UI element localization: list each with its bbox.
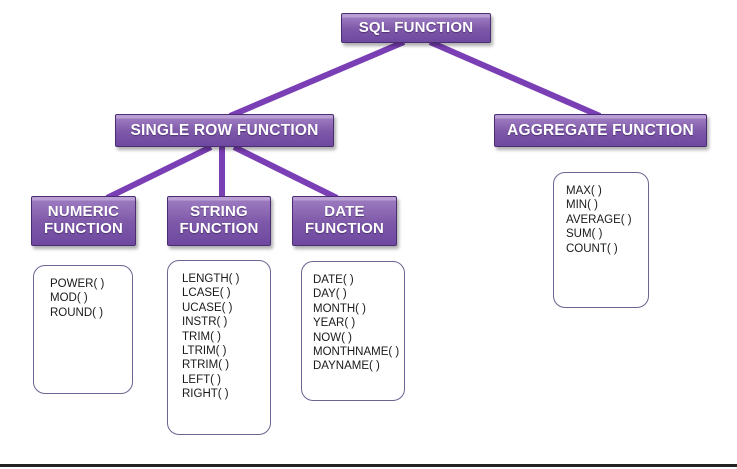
list-item: TRIM( ): [182, 330, 270, 344]
list-date-functions: DATE( )DAY( )MONTH( )YEAR( )NOW( )MONTHN…: [301, 261, 405, 401]
list-item: RTRIM( ): [182, 358, 270, 372]
list-item: AVERAGE( ): [566, 213, 648, 227]
list-item: LTRIM( ): [182, 344, 270, 358]
list-item: DATE( ): [313, 273, 404, 287]
node-string-function-label: STRING FUNCTION: [168, 204, 270, 238]
list-item: LCASE( ): [182, 286, 270, 300]
list-string-functions: LENGTH( )LCASE( )UCASE( )INSTR( )TRIM( )…: [167, 260, 271, 435]
node-date-function-label: DATE FUNCTION: [293, 204, 396, 238]
list-item: MOD( ): [50, 291, 132, 305]
list-item: POWER( ): [50, 277, 132, 291]
list-date-functions-items: DATE( )DAY( )MONTH( )YEAR( )NOW( )MONTHN…: [302, 262, 404, 374]
connector-root-to-aggregate: [430, 42, 600, 116]
list-item: SUM( ): [566, 227, 648, 241]
node-string-function-line1: STRING: [190, 203, 248, 220]
node-string-function-line2: FUNCTION: [179, 220, 258, 237]
node-single-row-function-label: SINGLE ROW FUNCTION: [116, 122, 333, 139]
list-item: COUNT( ): [566, 242, 648, 256]
list-item: ROUND( ): [50, 306, 132, 320]
node-aggregate-function[interactable]: AGGREGATE FUNCTION: [494, 114, 707, 147]
node-single-row-function[interactable]: SINGLE ROW FUNCTION: [115, 114, 334, 147]
list-item: NOW( ): [313, 331, 404, 345]
list-item: MIN( ): [566, 198, 648, 212]
list-numeric-functions-items: POWER( )MOD( )ROUND( ): [34, 266, 132, 320]
connector-single-row-to-numeric: [107, 147, 211, 198]
list-aggregate-functions: MAX( )MIN( )AVERAGE( )SUM( )COUNT( ): [553, 172, 649, 308]
connector-single-row-to-date: [234, 147, 337, 198]
list-item: MONTHNAME( ): [313, 345, 404, 359]
node-aggregate-function-label: AGGREGATE FUNCTION: [495, 122, 706, 139]
list-item: MAX( ): [566, 184, 648, 198]
list-numeric-functions: POWER( )MOD( )ROUND( ): [33, 265, 133, 394]
node-date-function-line2: FUNCTION: [305, 220, 384, 237]
list-item: YEAR( ): [313, 316, 404, 330]
diagram-canvas: SQL FUNCTION SINGLE ROW FUNCTION AGGREGA…: [0, 0, 737, 469]
list-item: RIGHT( ): [182, 387, 270, 401]
list-string-functions-items: LENGTH( )LCASE( )UCASE( )INSTR( )TRIM( )…: [168, 261, 270, 402]
node-numeric-function[interactable]: NUMERIC FUNCTION: [31, 196, 136, 246]
node-sql-function[interactable]: SQL FUNCTION: [341, 13, 491, 43]
list-item: UCASE( ): [182, 301, 270, 315]
list-item: LEFT( ): [182, 373, 270, 387]
node-string-function[interactable]: STRING FUNCTION: [167, 196, 271, 246]
list-item: DAY( ): [313, 287, 404, 301]
list-item: DAYNAME( ): [313, 359, 404, 373]
bottom-divider: [0, 464, 737, 467]
node-date-function-line1: DATE: [324, 203, 365, 220]
list-item: LENGTH( ): [182, 272, 270, 286]
list-item: INSTR( ): [182, 315, 270, 329]
connector-root-to-single-row: [230, 42, 404, 116]
node-numeric-function-line1: NUMERIC: [48, 203, 119, 220]
list-aggregate-functions-items: MAX( )MIN( )AVERAGE( )SUM( )COUNT( ): [554, 173, 648, 256]
node-date-function[interactable]: DATE FUNCTION: [292, 196, 397, 246]
list-item: MONTH( ): [313, 302, 404, 316]
node-numeric-function-label: NUMERIC FUNCTION: [32, 204, 135, 238]
node-numeric-function-line2: FUNCTION: [44, 220, 123, 237]
node-sql-function-label: SQL FUNCTION: [342, 20, 490, 37]
